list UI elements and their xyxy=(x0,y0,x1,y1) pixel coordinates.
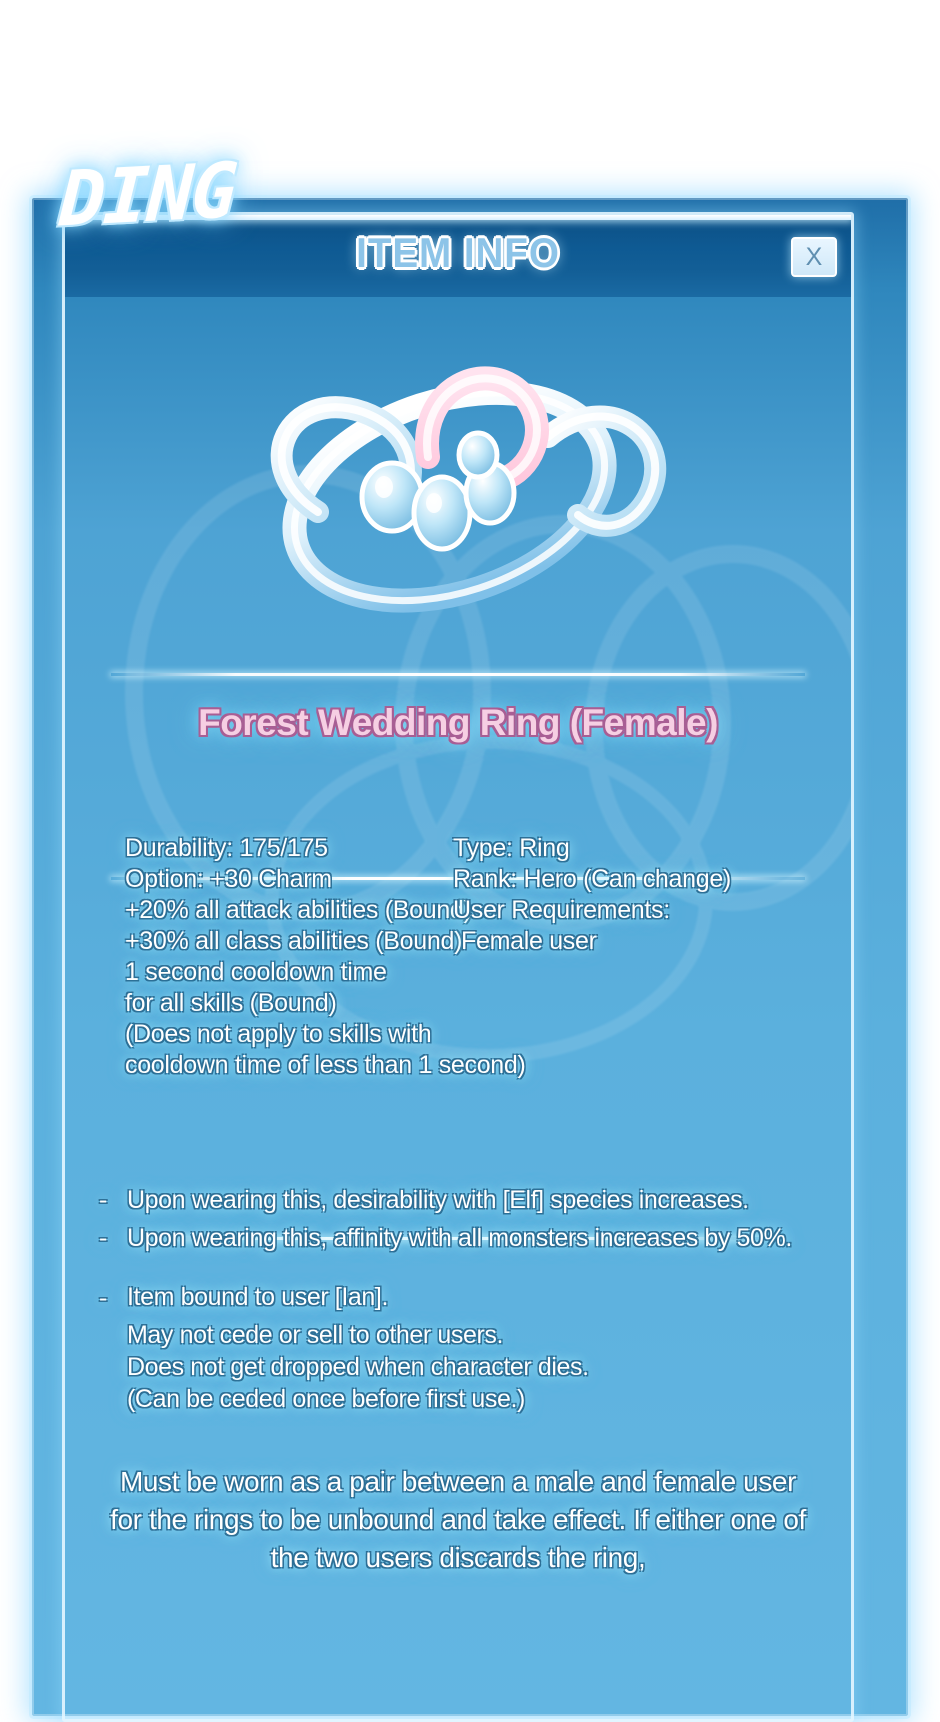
stat-class-bonus: +30% all class abilities (Bound) xyxy=(125,926,443,957)
bullet-dash-icon: - xyxy=(99,1183,127,1217)
stat-cooldown-note-1: (Does not apply to skills with xyxy=(125,1019,443,1050)
item-stats-section: Durability: 175/175 Option: +30 Charm +2… xyxy=(65,833,851,1081)
stat-type: Type: Ring xyxy=(453,833,851,864)
effect-text-elf: Upon wearing this, desirability with [El… xyxy=(127,1183,749,1217)
effect-row: - Upon wearing this, desirability with [… xyxy=(99,1183,817,1217)
window-title: ITEM INFO xyxy=(96,229,819,277)
stat-durability: Durability: 175/175 xyxy=(125,833,443,864)
stat-cooldown-2: for all skills (Bound) xyxy=(125,988,443,1019)
pair-requirement-note: Must be worn as a pair between a male an… xyxy=(65,1463,851,1577)
stat-requirement-value: Female user xyxy=(453,926,851,957)
stats-column-right: Type: Ring Rank: Hero (Can change) User … xyxy=(443,833,851,1081)
ding-sound-effect-text: DING xyxy=(57,145,237,243)
stat-attack-bonus: +20% all attack abilities (Bound) xyxy=(125,895,443,926)
close-icon: X xyxy=(806,245,823,270)
bullet-dash-icon: - xyxy=(99,1281,127,1315)
item-effects-list: - Upon wearing this, desirability with [… xyxy=(65,1183,851,1259)
effect-text-affinity: Upon wearing this, affinity with all mon… xyxy=(127,1221,792,1255)
stat-requirements: User Requirements: xyxy=(453,895,851,926)
divider-above-title xyxy=(111,673,805,676)
stats-column-left: Durability: 175/175 Option: +30 Charm +2… xyxy=(65,833,443,1081)
ring-icon xyxy=(178,317,738,647)
item-info-window: ITEM INFO X xyxy=(62,212,854,1722)
effect-row: - Upon wearing this, affinity with all m… xyxy=(99,1221,817,1255)
stat-cooldown-1: 1 second cooldown time xyxy=(125,957,443,988)
item-binding-section: - Item bound to user [Ian]. May not cede… xyxy=(65,1281,851,1415)
binding-note-cede-once: (Can be ceded once before first use.) xyxy=(99,1383,817,1415)
binding-row: - Item bound to user [Ian]. xyxy=(99,1281,817,1315)
item-artwork-area xyxy=(65,297,851,667)
stat-cooldown-note-2: cooldown time of less than 1 second) xyxy=(125,1050,443,1081)
stat-rank: Rank: Hero (Can change) xyxy=(453,864,851,895)
item-name: Forest Wedding Ring (Female) xyxy=(65,702,851,744)
binding-note-drop: Does not get dropped when character dies… xyxy=(99,1351,817,1383)
close-button[interactable]: X xyxy=(791,237,837,277)
stat-option: Option: +30 Charm xyxy=(125,864,443,895)
binding-note-cede: May not cede or sell to other users. xyxy=(99,1319,817,1351)
bullet-dash-icon: - xyxy=(99,1221,127,1255)
binding-owner-text: Item bound to user [Ian]. xyxy=(127,1281,388,1313)
